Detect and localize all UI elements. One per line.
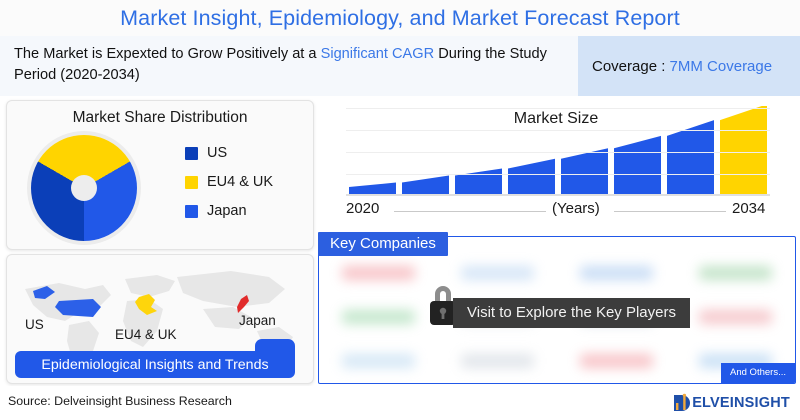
company-logo xyxy=(319,251,438,295)
delveinsight-logo: ELVEINSIGHT xyxy=(672,392,790,414)
company-logo-blob xyxy=(699,266,773,279)
market-size-chart: Market Size 2020 (Years) 2034 xyxy=(318,100,794,228)
market-share-title: Market Share Distribution xyxy=(7,109,313,127)
company-logo-blob xyxy=(580,354,654,367)
x-start-label: 2020 xyxy=(346,200,379,217)
company-logo xyxy=(557,339,676,383)
donut-chart xyxy=(31,135,137,241)
title-bar: Market Insight, Epidemiology, and Market… xyxy=(0,0,800,36)
x-axis: 2020 (Years) 2034 xyxy=(346,200,784,222)
epidemiology-map-card: US EU4 & UK Japan Epidemiological Insigh… xyxy=(6,254,314,384)
source-text: Source: Delveinsight Business Research xyxy=(8,394,232,408)
market-size-title: Market Size xyxy=(318,110,794,128)
bar-2028 xyxy=(561,148,608,194)
legend-item-eu4-uk: EU4 & UK xyxy=(185,174,273,190)
bar-2024 xyxy=(455,168,502,194)
subtitle-text: The Market is Expexted to Grow Positivel… xyxy=(14,44,574,86)
legend-swatch-us xyxy=(185,147,198,160)
bar-2020 xyxy=(349,183,396,194)
key-companies-card: Visit to Explore the Key Players And Oth… xyxy=(318,236,796,384)
x-axis-line xyxy=(346,194,770,196)
pie-legend: US EU4 & UK Japan xyxy=(185,145,273,232)
coverage-box: Coverage : 7MM Coverage xyxy=(578,36,800,96)
bar-2026 xyxy=(508,159,555,194)
company-logo xyxy=(319,339,438,383)
bar-2032 xyxy=(667,120,714,194)
x-axis-title: (Years) xyxy=(552,200,600,217)
company-logo-blob xyxy=(580,266,654,279)
delveinsight-wordmark: ELVEINSIGHT xyxy=(692,395,790,411)
company-logo-blob xyxy=(699,310,773,323)
map-label-eu4-uk: EU4 & UK xyxy=(115,327,177,342)
bar-2030 xyxy=(614,136,661,194)
market-share-card: Market Share Distribution US EU4 & UK Ja… xyxy=(6,100,314,250)
legend-item-japan: Japan xyxy=(185,203,273,219)
company-logo-blob xyxy=(342,310,416,323)
company-logo xyxy=(319,295,438,339)
and-others-badge[interactable]: And Others... xyxy=(721,363,795,383)
report-infographic: Market Insight, Epidemiology, and Market… xyxy=(0,0,800,420)
delveinsight-mark-icon xyxy=(672,392,692,414)
company-logo-blob xyxy=(342,266,416,279)
legend-swatch-japan xyxy=(185,205,198,218)
company-logo xyxy=(676,251,795,295)
company-logo xyxy=(557,251,676,295)
legend-label-eu4-uk: EU4 & UK xyxy=(207,174,273,190)
subtitle-pre: The Market is Expexted to Grow Positivel… xyxy=(14,46,321,62)
subtitle-highlight: Significant CAGR xyxy=(321,46,435,62)
legend-item-us: US xyxy=(185,145,273,161)
map-label-us: US xyxy=(25,317,44,332)
key-players-tooltip: Visit to Explore the Key Players xyxy=(453,298,690,328)
coverage-label: Coverage : xyxy=(592,58,670,75)
company-logo-blob xyxy=(342,354,416,367)
company-logo-blob xyxy=(461,266,535,279)
epidemiology-banner[interactable]: Epidemiological Insights and Trends xyxy=(15,351,295,378)
x-end-label: 2034 xyxy=(732,200,765,217)
legend-label-japan: Japan xyxy=(207,203,247,219)
bar-2022 xyxy=(402,176,449,194)
company-logo xyxy=(676,295,795,339)
page-title: Market Insight, Epidemiology, and Market… xyxy=(120,6,680,31)
key-companies-tab[interactable]: Key Companies xyxy=(318,232,448,256)
company-logo xyxy=(438,339,557,383)
legend-swatch-eu4-uk xyxy=(185,176,198,189)
map-label-japan: Japan xyxy=(239,313,276,328)
company-logo-blob xyxy=(461,354,535,367)
footer: Source: Delveinsight Business Research E… xyxy=(0,386,800,420)
coverage-value: 7MM Coverage xyxy=(670,58,773,75)
legend-label-us: US xyxy=(207,145,227,161)
donut-ring xyxy=(31,135,137,241)
